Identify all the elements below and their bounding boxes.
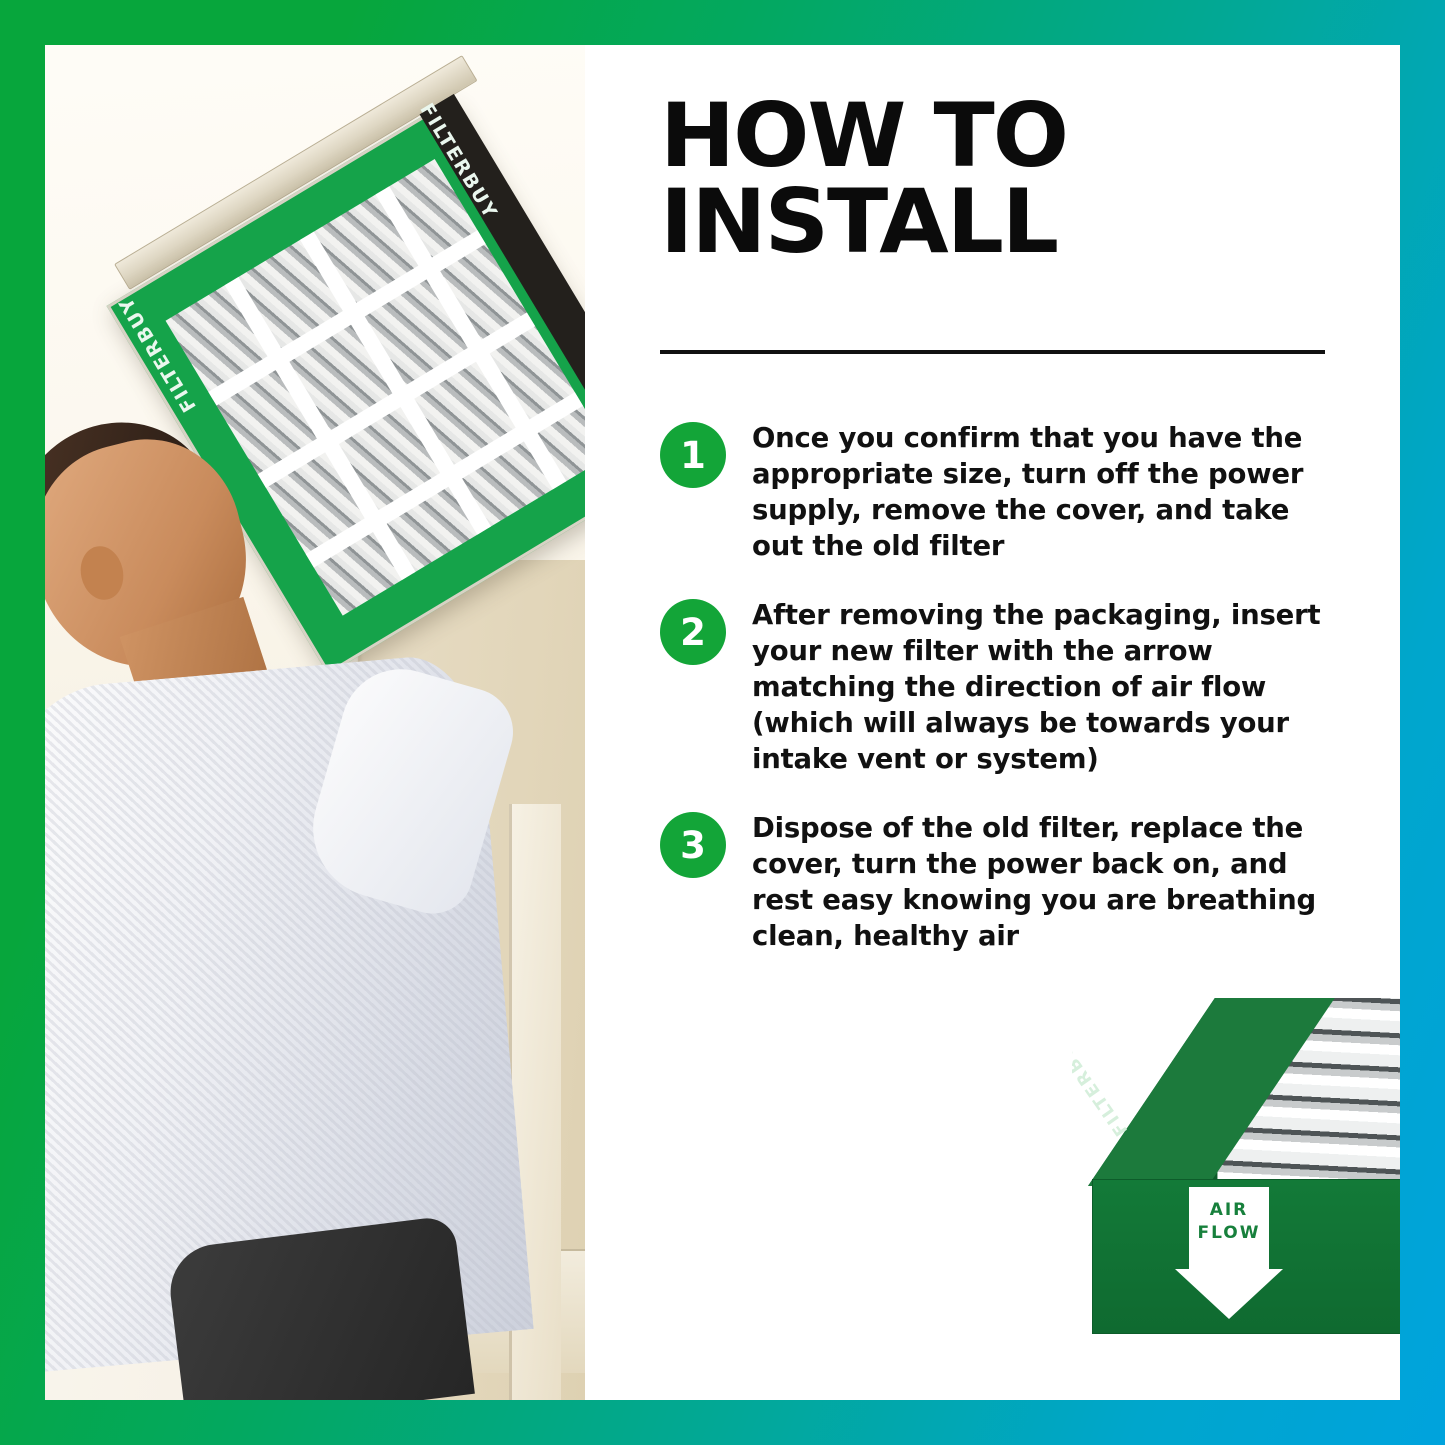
step-item-1: 1 Once you confirm that you have the app… [660,420,1360,564]
step-number-badge-3: 3 [660,812,726,878]
poster-canvas: FILTERBUY FILTERBUY HOW TO INSTALL [45,45,1400,1400]
page-title-line-2: INSTALL [660,179,1067,265]
step-number-badge-1: 1 [660,422,726,488]
air-flow-label-line-1: AIR [1175,1199,1283,1222]
step-item-2: 2 After removing the packaging, insert y… [660,597,1360,777]
step-text-2: After removing the packaging, insert you… [752,597,1342,777]
step-text-1: Once you confirm that you have the appro… [752,420,1342,564]
air-flow-label: AIR FLOW [1175,1199,1283,1245]
step-number-badge-2: 2 [660,599,726,665]
product-filter-front-face: AIR FLOW [1092,1179,1400,1334]
air-flow-label-line-2: FLOW [1175,1222,1283,1245]
photo-person [45,424,585,1400]
product-filter-image: FILTERBUY AIR FLOW [1072,998,1400,1338]
install-photo: FILTERBUY FILTERBUY [45,45,585,1400]
air-flow-arrow-icon: AIR FLOW [1175,1187,1283,1319]
poster-frame: FILTERBUY FILTERBUY HOW TO INSTALL [0,0,1445,1445]
page-title: HOW TO INSTALL [660,93,1067,265]
product-brand-label: FILTERBUY [1072,1027,1132,1140]
air-flow-arrow-head [1175,1269,1283,1319]
page-title-line-1: HOW TO [660,93,1067,179]
step-text-3: Dispose of the old filter, replace the c… [752,810,1342,954]
instructions-panel: HOW TO INSTALL 1 Once you confirm that y… [660,45,1400,1400]
step-item-3: 3 Dispose of the old filter, replace the… [660,810,1360,954]
title-divider [660,350,1325,354]
steps-list: 1 Once you confirm that you have the app… [660,420,1360,987]
